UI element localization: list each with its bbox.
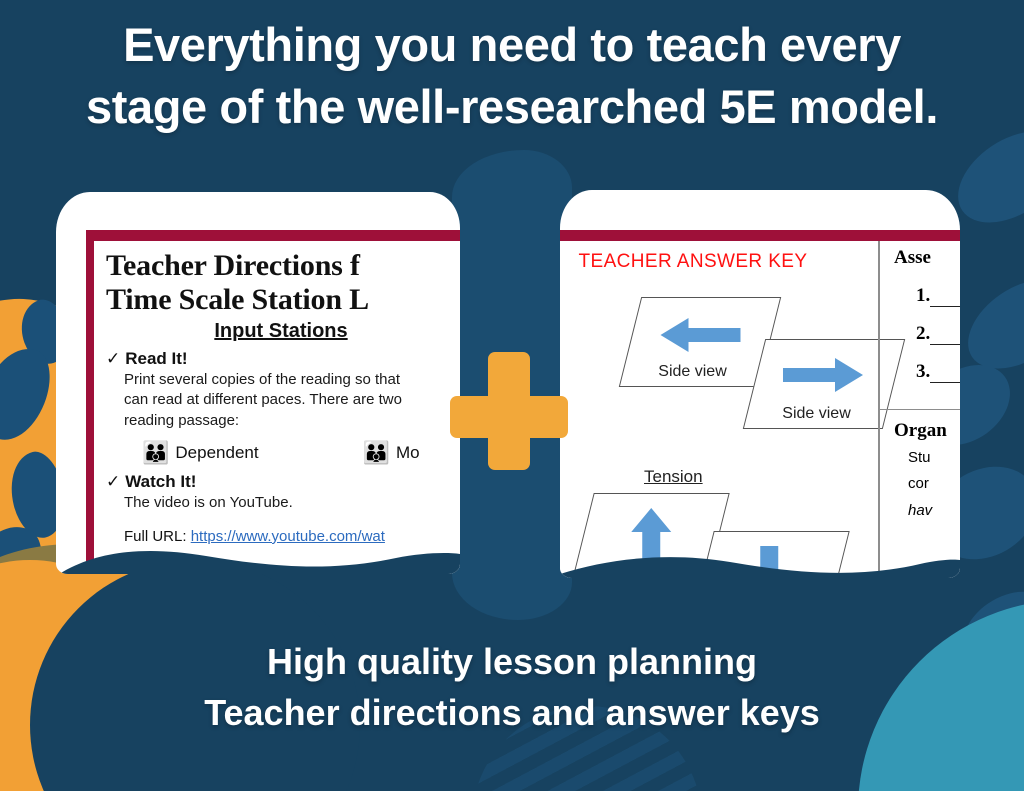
diagram-caption-2: Side view <box>748 405 886 423</box>
document-subtitle: Input Stations <box>106 320 460 343</box>
reading-option-label-2: Mo <box>396 443 420 463</box>
caption-block: High quality lesson planning Teacher dir… <box>0 636 1024 738</box>
teacher-directions-card[interactable]: Teacher Directions f Time Scale Station … <box>56 192 460 574</box>
read-it-body-line-2: can read at different paces. There are t… <box>124 390 460 409</box>
document-accent-bar <box>560 230 960 241</box>
organizer-heading: Organ <box>894 420 960 442</box>
headline-line-1: Everything you need to teach every <box>24 14 1000 76</box>
reading-options-row: 👪 Dependent 👪 Mo <box>142 442 460 464</box>
teacher-directions-document: Teacher Directions f Time Scale Station … <box>86 230 460 574</box>
blue-oval-2 <box>952 261 1024 387</box>
teardrop-shape-1 <box>0 339 59 449</box>
card-bottom-wave-right <box>560 540 960 578</box>
answer-key-main-column: TEACHER ANSWER KEY Side view Side view <box>560 241 878 578</box>
headline: Everything you need to teach every stage… <box>0 14 1024 138</box>
caption-line-2: Teacher directions and answer keys <box>0 687 1024 738</box>
organizer-line-3: hav <box>908 501 960 521</box>
organizer-line-2: cor <box>908 474 960 494</box>
poster-canvas: Everything you need to teach every stage… <box>0 0 1024 791</box>
document-title-line-1: Teacher Directions f <box>106 249 460 283</box>
read-it-heading: ✓Read It! <box>106 349 460 369</box>
watch-it-body: The video is on YouTube. <box>124 493 460 512</box>
teacher-standing-icon: 👪 <box>363 442 390 464</box>
document-title-line-2: Time Scale Station L <box>106 283 460 317</box>
reading-option-label-1: Dependent <box>175 443 258 463</box>
tension-label: Tension <box>644 467 703 487</box>
headline-line-2: stage of the well-researched 5E model. <box>24 76 1000 138</box>
read-it-label: Read It! <box>125 349 187 368</box>
read-it-body-line-3: reading passage: <box>124 411 460 430</box>
checkmark-icon-2: ✓ <box>106 472 120 491</box>
answer-key-document: TEACHER ANSWER KEY Side view Side view <box>560 230 960 578</box>
assessment-side-column: Asse 1. 2. 3. Organ Stu cor hav <box>878 241 960 578</box>
card-bottom-wave-left <box>56 536 460 574</box>
assessment-item-2: 2. <box>916 323 960 345</box>
assessment-item-3: 3. <box>916 361 960 383</box>
left-arrow-icon <box>658 314 742 358</box>
right-arrow-icon <box>781 354 865 398</box>
caption-line-1: High quality lesson planning <box>0 636 1024 687</box>
watch-it-label: Watch It! <box>125 472 196 491</box>
teacher-answer-key-label: TEACHER ANSWER KEY <box>560 249 878 273</box>
answer-key-card[interactable]: TEACHER ANSWER KEY Side view Side view <box>560 190 960 578</box>
read-it-body-line-1: Print several copies of the reading so t… <box>124 370 460 389</box>
organizer-line-1: Stu <box>908 448 960 468</box>
diagram-caption-1: Side view <box>624 363 762 381</box>
assessment-heading: Asse <box>894 247 960 269</box>
plus-separator-icon <box>450 352 568 470</box>
watch-it-heading: ✓Watch It! <box>106 472 460 492</box>
students-seated-icon: 👪 <box>142 442 169 464</box>
teardrop-shape-3 <box>0 515 51 616</box>
assessment-item-1: 1. <box>916 285 960 307</box>
side-divider <box>880 409 960 410</box>
checkmark-icon: ✓ <box>106 349 120 368</box>
